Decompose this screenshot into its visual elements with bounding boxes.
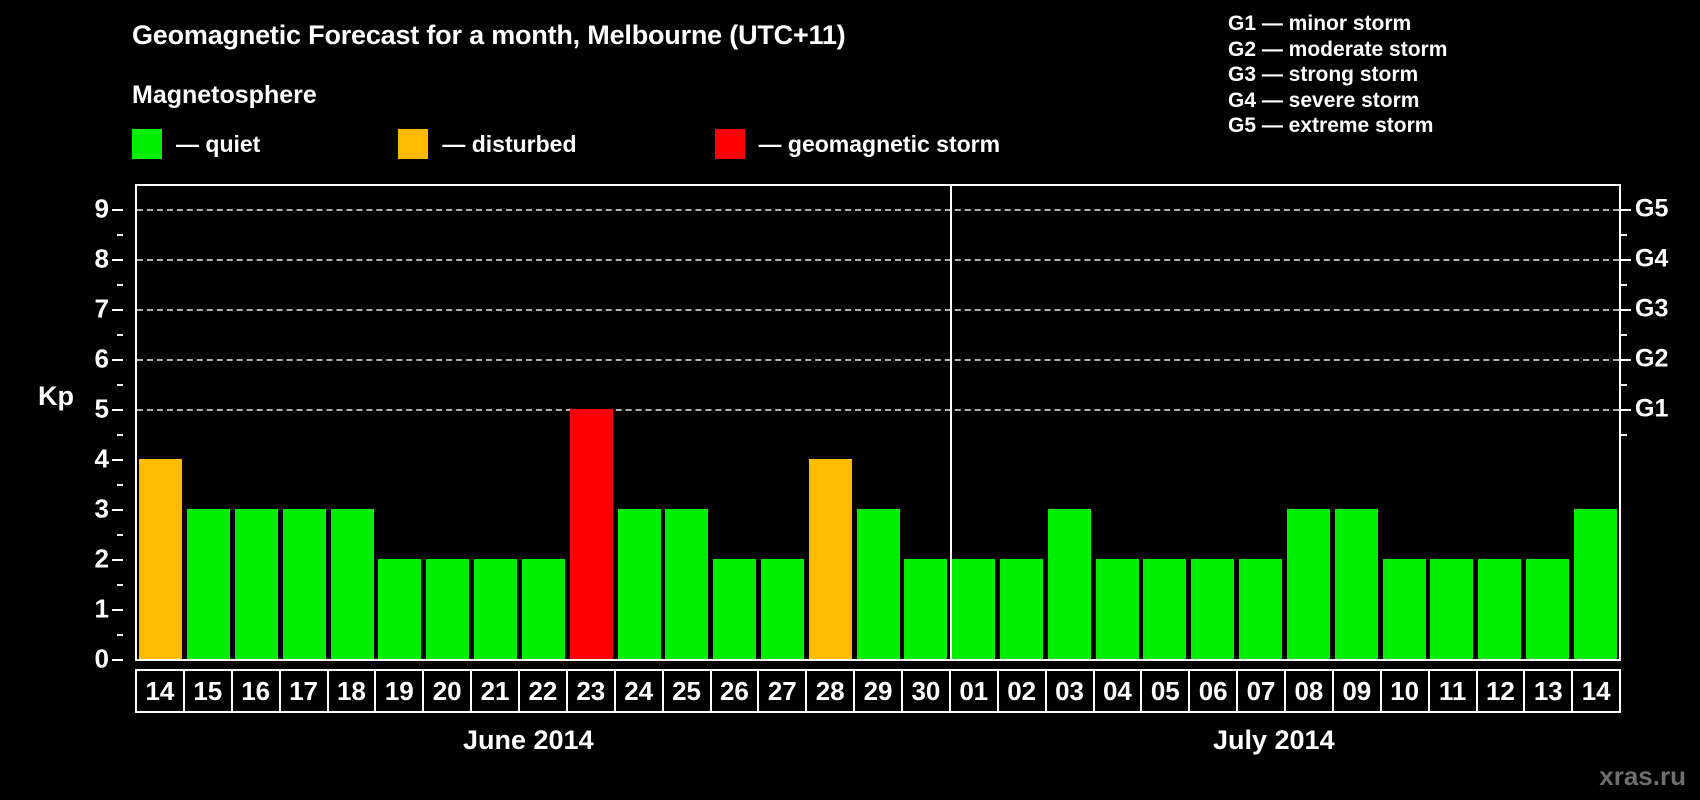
legend-label: — quiet xyxy=(176,131,260,158)
bar-slot xyxy=(185,186,233,659)
date-cell: 16 xyxy=(231,669,281,713)
y-tick-label: 2 xyxy=(95,544,109,575)
gscale-legend: G1 — minor stormG2 — moderate stormG3 — … xyxy=(1228,11,1447,139)
y-tick-mark xyxy=(112,459,123,461)
bar xyxy=(713,559,756,659)
month-divider-line xyxy=(950,186,952,659)
y-minor-tick-mark xyxy=(117,384,123,386)
y-minor-tick-mark xyxy=(117,334,123,336)
bar xyxy=(570,409,613,659)
bar xyxy=(1574,509,1617,659)
legend-entry: — quiet xyxy=(132,129,260,159)
y-minor-tick-mark xyxy=(117,484,123,486)
date-cell: 03 xyxy=(1045,669,1095,713)
watermark: xras.ru xyxy=(1599,761,1686,792)
g-tick-label: G5 xyxy=(1635,195,1668,224)
bar-slot xyxy=(711,186,759,659)
g-scale-axis: G5G4G3G2G1 xyxy=(1621,184,1700,661)
legend-entry: — geomagnetic storm xyxy=(715,129,1001,159)
y-tick-mark xyxy=(112,559,123,561)
y-tick-label: 1 xyxy=(95,594,109,625)
bar-slot xyxy=(1571,186,1619,659)
bar xyxy=(857,509,900,659)
bar-series xyxy=(137,186,1619,659)
bar-slot xyxy=(424,186,472,659)
bar-slot xyxy=(998,186,1046,659)
bar xyxy=(522,559,565,659)
chart-plot-area xyxy=(135,184,1621,661)
bar-slot xyxy=(759,186,807,659)
date-cell: 25 xyxy=(662,669,712,713)
orange-square-icon xyxy=(398,129,428,159)
gscale-legend-row: G1 — minor storm xyxy=(1228,11,1447,37)
bar-slot xyxy=(615,186,663,659)
date-cell: 04 xyxy=(1093,669,1143,713)
bar-slot xyxy=(1476,186,1524,659)
bar-slot xyxy=(520,186,568,659)
bar xyxy=(1096,559,1139,659)
color-legend: — quiet— disturbed— geomagnetic storm xyxy=(132,129,1000,159)
bar xyxy=(474,559,517,659)
date-cell: 28 xyxy=(805,669,855,713)
y-tick-label: 5 xyxy=(95,394,109,425)
date-cell: 12 xyxy=(1476,669,1526,713)
g-tick-mark xyxy=(1621,359,1631,361)
bar xyxy=(1335,509,1378,659)
y-tick-mark xyxy=(112,509,123,511)
g-minor-tick-mark xyxy=(1621,334,1627,336)
y-minor-tick-mark xyxy=(117,434,123,436)
date-cell: 22 xyxy=(518,669,568,713)
g-minor-tick-mark xyxy=(1621,434,1627,436)
date-cell: 29 xyxy=(853,669,903,713)
y-tick-mark xyxy=(112,309,123,311)
y-minor-tick-mark xyxy=(117,234,123,236)
bar xyxy=(378,559,421,659)
y-tick-label: 7 xyxy=(95,294,109,325)
date-cell: 18 xyxy=(327,669,377,713)
y-tick-mark xyxy=(112,609,123,611)
bar xyxy=(809,459,852,659)
g-minor-tick-mark xyxy=(1621,234,1627,236)
plot-inner xyxy=(137,186,1619,659)
y-tick-mark xyxy=(112,209,123,211)
bar xyxy=(1048,509,1091,659)
date-cell: 10 xyxy=(1380,669,1430,713)
red-square-icon xyxy=(715,129,745,159)
bar-slot xyxy=(1524,186,1572,659)
month-caption-july: July 2014 xyxy=(1213,725,1335,756)
date-cell: 09 xyxy=(1332,669,1382,713)
date-cell: 17 xyxy=(279,669,329,713)
bar-slot xyxy=(1189,186,1237,659)
g-tick-mark xyxy=(1621,209,1631,211)
bar xyxy=(618,509,661,659)
g-tick-mark xyxy=(1621,309,1631,311)
date-cell: 06 xyxy=(1188,669,1238,713)
date-cell: 11 xyxy=(1428,669,1478,713)
gscale-legend-row: G4 — severe storm xyxy=(1228,88,1447,114)
y-tick-label: 3 xyxy=(95,494,109,525)
date-cell: 21 xyxy=(470,669,520,713)
g-tick-mark xyxy=(1621,259,1631,261)
bar xyxy=(235,509,278,659)
bar xyxy=(1526,559,1569,659)
y-tick-mark xyxy=(112,409,123,411)
date-cell: 23 xyxy=(566,669,616,713)
legend-entry: — disturbed xyxy=(398,129,576,159)
bar-slot xyxy=(472,186,520,659)
y-axis: 9876543210 xyxy=(0,184,135,661)
y-tick-label: 9 xyxy=(95,194,109,225)
bar-slot xyxy=(328,186,376,659)
legend-label: — disturbed xyxy=(442,131,576,158)
gscale-legend-row: G3 — strong storm xyxy=(1228,62,1447,88)
date-cell: 01 xyxy=(949,669,999,713)
date-cell: 14 xyxy=(1571,669,1621,713)
date-cell: 05 xyxy=(1140,669,1190,713)
bar-slot xyxy=(233,186,281,659)
gscale-legend-row: G2 — moderate storm xyxy=(1228,37,1447,63)
green-square-icon xyxy=(132,129,162,159)
g-tick-label: G4 xyxy=(1635,245,1668,274)
y-tick-mark xyxy=(112,359,123,361)
y-tick-mark xyxy=(112,659,123,661)
date-cell: 19 xyxy=(374,669,424,713)
y-axis-title: Kp xyxy=(38,381,74,412)
date-cell: 26 xyxy=(710,669,760,713)
bar-slot xyxy=(806,186,854,659)
bar-slot xyxy=(1045,186,1093,659)
y-minor-tick-mark xyxy=(117,284,123,286)
g-minor-tick-mark xyxy=(1621,284,1627,286)
bar xyxy=(952,559,995,659)
g-tick-label: G3 xyxy=(1635,295,1668,324)
bar-slot xyxy=(137,186,185,659)
bar xyxy=(1143,559,1186,659)
bar xyxy=(139,459,182,659)
bar-slot xyxy=(1332,186,1380,659)
date-cell: 27 xyxy=(757,669,807,713)
gscale-legend-row: G5 — extreme storm xyxy=(1228,113,1447,139)
y-tick-label: 0 xyxy=(95,644,109,675)
date-cell: 15 xyxy=(183,669,233,713)
y-tick-label: 6 xyxy=(95,344,109,375)
y-tick-mark xyxy=(112,259,123,261)
y-minor-tick-mark xyxy=(117,534,123,536)
month-caption-june: June 2014 xyxy=(463,725,594,756)
date-cell: 30 xyxy=(901,669,951,713)
bar xyxy=(1383,559,1426,659)
bar-slot xyxy=(567,186,615,659)
g-minor-tick-mark xyxy=(1621,384,1627,386)
date-cell: 24 xyxy=(614,669,664,713)
date-cell: 13 xyxy=(1523,669,1573,713)
page-title: Geomagnetic Forecast for a month, Melbou… xyxy=(132,20,845,51)
y-minor-tick-mark xyxy=(117,584,123,586)
y-tick-label: 4 xyxy=(95,444,109,475)
bar xyxy=(1239,559,1282,659)
bar-slot xyxy=(854,186,902,659)
bar xyxy=(1000,559,1043,659)
bar xyxy=(761,559,804,659)
bar xyxy=(283,509,326,659)
bar xyxy=(904,559,947,659)
bar-slot xyxy=(376,186,424,659)
bar-slot xyxy=(1285,186,1333,659)
bar-slot xyxy=(663,186,711,659)
bar-slot xyxy=(280,186,328,659)
bar xyxy=(1430,559,1473,659)
legend-label: — geomagnetic storm xyxy=(759,131,1001,158)
bar-slot xyxy=(1380,186,1428,659)
y-tick-label: 8 xyxy=(95,244,109,275)
g-tick-label: G1 xyxy=(1635,395,1668,424)
date-cell: 08 xyxy=(1284,669,1334,713)
bar xyxy=(1478,559,1521,659)
bar-slot xyxy=(902,186,950,659)
bar-slot xyxy=(1237,186,1285,659)
bar xyxy=(1191,559,1234,659)
magnetosphere-section-label: Magnetosphere xyxy=(132,81,317,110)
bar xyxy=(1287,509,1330,659)
bar xyxy=(331,509,374,659)
bar-slot xyxy=(1428,186,1476,659)
g-tick-label: G2 xyxy=(1635,345,1668,374)
date-cell: 07 xyxy=(1236,669,1286,713)
bar-slot xyxy=(1093,186,1141,659)
date-axis-labels: 1415161718192021222324252627282930010203… xyxy=(135,669,1621,713)
date-cell: 02 xyxy=(997,669,1047,713)
date-cell: 14 xyxy=(135,669,185,713)
bar xyxy=(187,509,230,659)
bar xyxy=(426,559,469,659)
bar-slot xyxy=(1141,186,1189,659)
bar-slot xyxy=(950,186,998,659)
bar xyxy=(665,509,708,659)
y-minor-tick-mark xyxy=(117,634,123,636)
g-tick-mark xyxy=(1621,409,1631,411)
date-cell: 20 xyxy=(422,669,472,713)
